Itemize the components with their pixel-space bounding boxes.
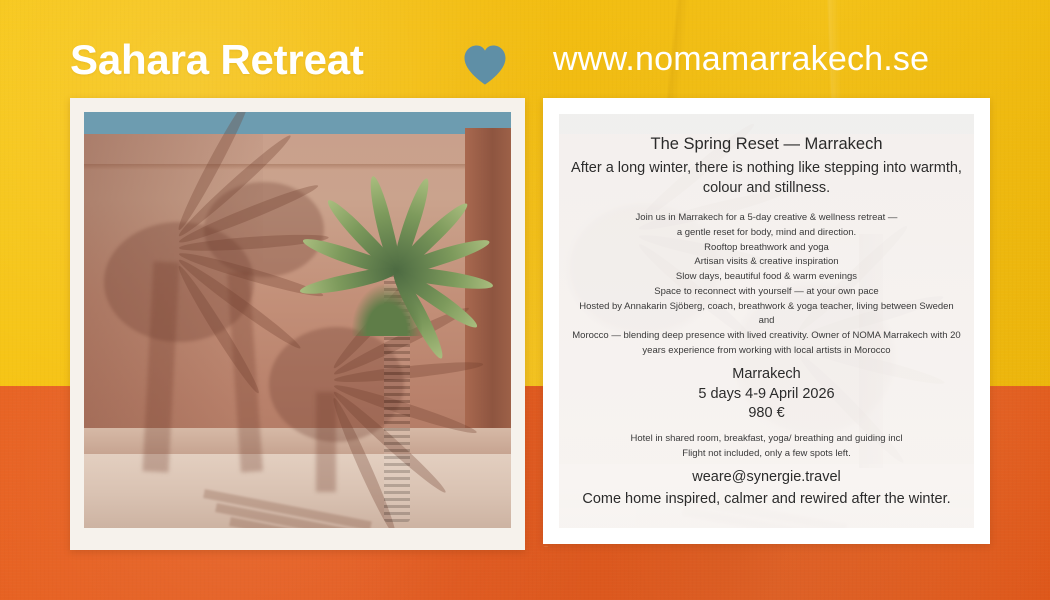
flyer-location: Marrakech <box>571 365 962 384</box>
flyer-subheading-line1: After a long winter, there is nothing li… <box>571 159 962 179</box>
flyer-card: The Spring Reset — Marrakech After a lon… <box>559 114 974 528</box>
flyer-inclusion-line: Flight not included, only a few spots le… <box>571 447 962 462</box>
flyer-detail-line: Space to reconnect with yourself — at yo… <box>571 285 962 300</box>
flyer-detail-line: Rooftop breathwork and yoga <box>571 241 962 256</box>
flyer-heading: The Spring Reset — Marrakech <box>571 134 962 155</box>
flyer-inclusion-line: Hotel in shared room, breakfast, yoga/ b… <box>571 432 962 447</box>
flyer-host-bio-line: Morocco — blending deep presence with li… <box>571 329 962 344</box>
flyer-dates: 5 days 4-9 April 2026 <box>571 385 962 404</box>
retreat-photo <box>84 112 511 528</box>
flyer-host-bio-line: years experience from working with local… <box>571 344 962 359</box>
poster-canvas: Sahara Retreat www.nomamarrakech.se <box>0 0 1050 600</box>
flyer-host-bio-line: Hosted by Annakarin Sjöberg, coach, brea… <box>571 300 962 329</box>
poster-header: Sahara Retreat www.nomamarrakech.se <box>0 0 1050 100</box>
flyer-frame-right: The Spring Reset — Marrakech After a lon… <box>543 98 990 544</box>
flyer-copy: The Spring Reset — Marrakech After a lon… <box>559 114 974 528</box>
flyer-detail-line: Artisan visits & creative inspiration <box>571 255 962 270</box>
flyer-closing-line: Come home inspired, calmer and rewired a… <box>571 490 962 509</box>
heart-icon <box>462 44 508 86</box>
photo-frame-left <box>70 98 525 550</box>
flyer-detail-line: Slow days, beautiful food & warm evening… <box>571 270 962 285</box>
flyer-detail-line: Join us in Marrakech for a 5-day creativ… <box>571 211 962 226</box>
flyer-subheading-line2: colour and stillness. <box>571 179 962 199</box>
flyer-price: 980 € <box>571 404 962 423</box>
page-title: Sahara Retreat <box>70 39 364 81</box>
flyer-detail-line: a gentle reset for body, mind and direct… <box>571 226 962 241</box>
website-url[interactable]: www.nomamarrakech.se <box>553 40 929 79</box>
flyer-email[interactable]: weare@synergie.travel <box>571 468 962 487</box>
photo-shrub <box>352 284 422 336</box>
